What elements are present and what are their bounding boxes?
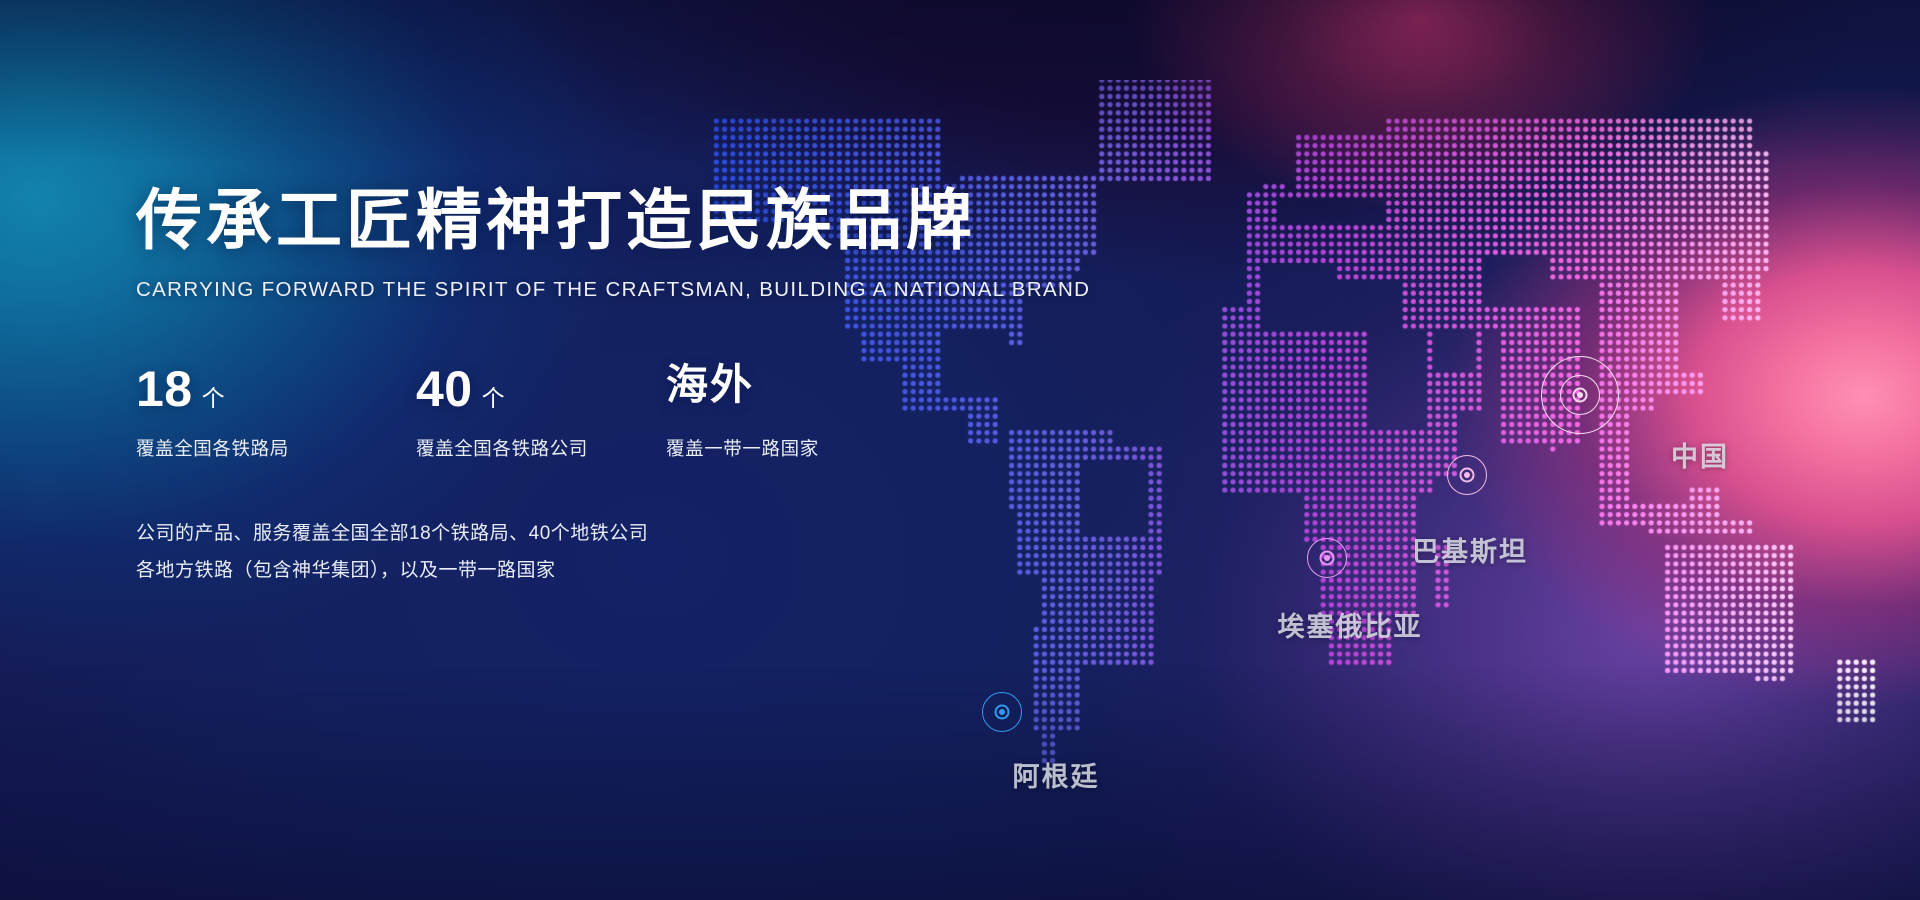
marker-center-dot-icon	[1577, 392, 1583, 398]
stat-description: 覆盖全国各铁路局	[136, 435, 416, 461]
marker-center-dot-icon	[999, 709, 1005, 715]
stat-item-railway-bureaus: 18 个 覆盖全国各铁路局	[136, 364, 416, 461]
description-line-1: 公司的产品、服务覆盖全国全部18个铁路局、40个地铁公司	[136, 515, 1116, 552]
map-marker-label: 阿根廷	[1013, 755, 1100, 794]
marker-center-dot-icon	[1464, 472, 1470, 478]
banner-stage: 中国巴基斯坦埃塞俄比亚阿根廷 传承工匠精神打造民族品牌 CARRYING FOR…	[0, 0, 1920, 900]
page-title: 传承工匠精神打造民族品牌	[136, 186, 1116, 256]
content-block: 传承工匠精神打造民族品牌 CARRYING FORWARD THE SPIRIT…	[136, 186, 1116, 589]
stat-item-railway-companies: 40 个 覆盖全国各铁路公司	[416, 364, 666, 461]
marker-center-dot-icon	[1324, 555, 1330, 561]
map-marker-label: 埃塞俄比亚	[1278, 605, 1423, 644]
stat-value-row: 40 个	[416, 364, 666, 422]
stat-value-row: 18 个	[136, 364, 416, 422]
map-marker-label: 巴基斯坦	[1412, 530, 1528, 569]
stat-item-overseas: 海外 覆盖一带一路国家	[666, 364, 906, 461]
stat-value: 40	[416, 364, 473, 414]
stat-description: 覆盖全国各铁路公司	[416, 435, 666, 461]
stat-value: 海外	[666, 364, 754, 406]
stat-unit: 个	[202, 387, 225, 410]
page-subtitle: CARRYING FORWARD THE SPIRIT OF THE CRAFT…	[136, 278, 1116, 302]
stats-row: 18 个 覆盖全国各铁路局 40 个 覆盖全国各铁路公司 海外 覆盖一带一路国家	[136, 364, 1116, 461]
description-paragraph: 公司的产品、服务覆盖全国全部18个铁路局、40个地铁公司 各地方铁路（包含神华集…	[136, 515, 1116, 589]
stat-description: 覆盖一带一路国家	[666, 435, 906, 461]
stat-unit: 个	[482, 387, 505, 410]
description-line-2: 各地方铁路（包含神华集团），以及一带一路国家	[136, 552, 1116, 589]
map-marker-label: 中国	[1671, 435, 1729, 474]
stat-value: 18	[136, 364, 193, 414]
stat-value-row: 海外	[666, 364, 906, 422]
